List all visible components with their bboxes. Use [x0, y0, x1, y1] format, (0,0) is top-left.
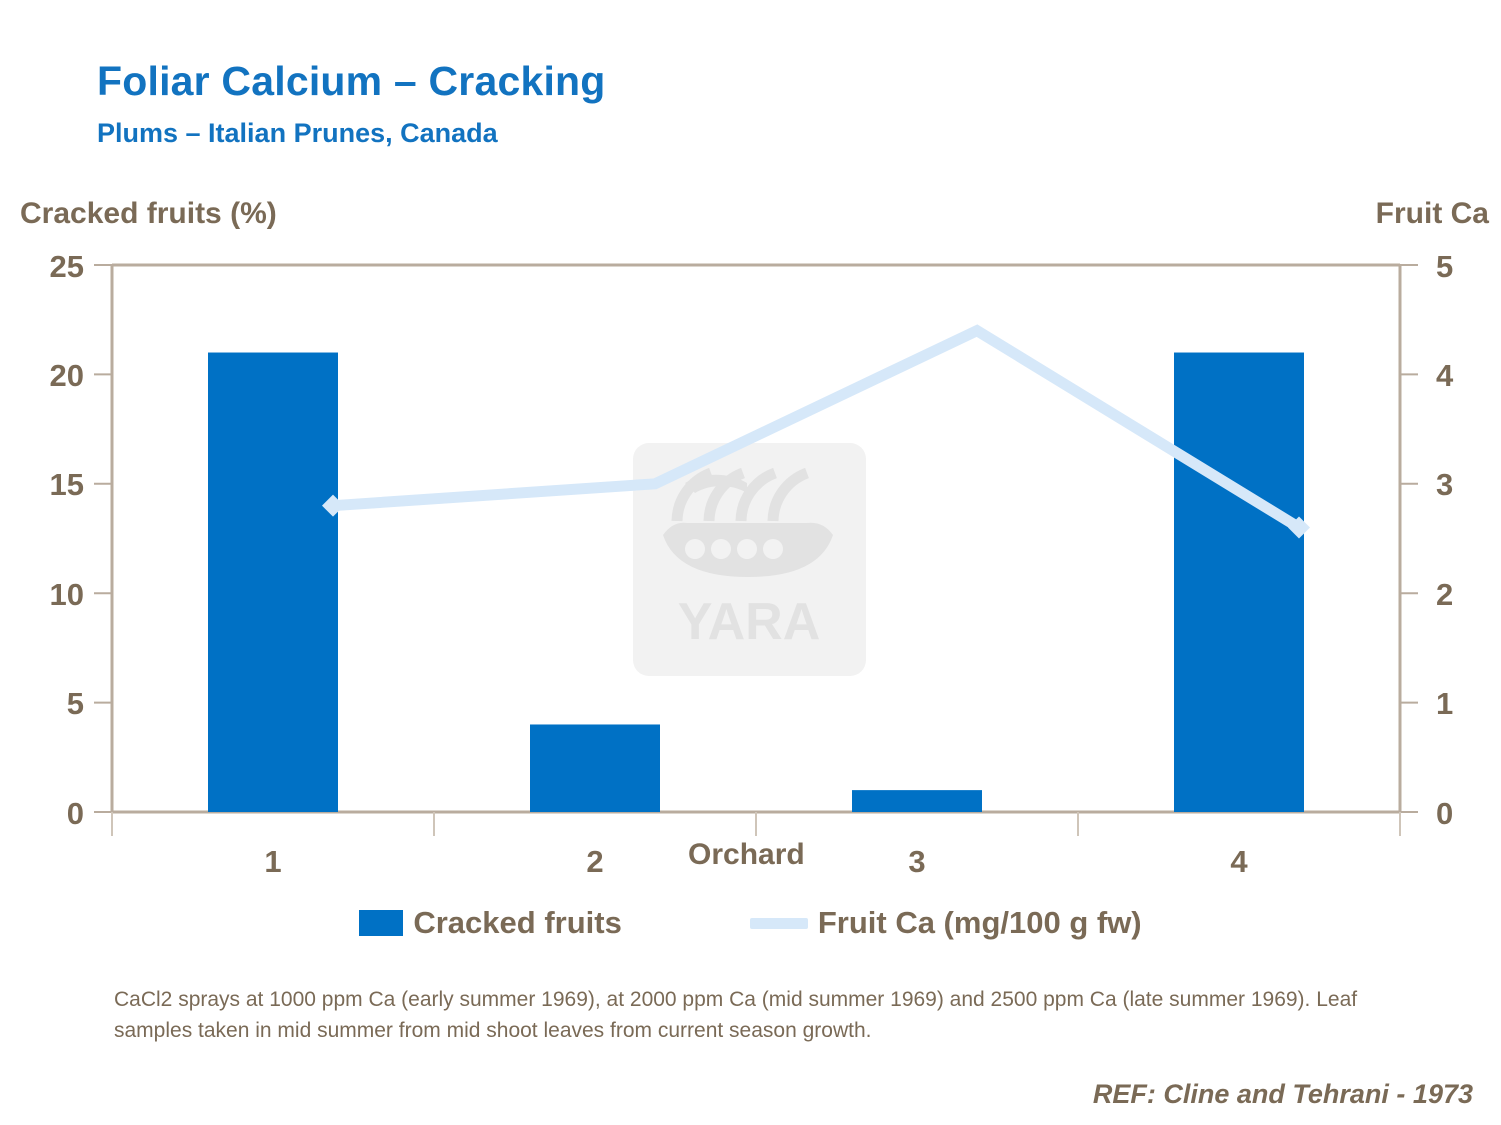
- left-axis-tick-labels: 25 20 15 10 5 0: [50, 249, 84, 831]
- slide-root: Foliar Calcium – Cracking Plums – Italia…: [0, 0, 1501, 1125]
- bar-3: [852, 790, 982, 812]
- right-tick-3: 3: [1436, 467, 1453, 502]
- bar-2: [530, 724, 660, 812]
- legend-label-cracked-fruits: Cracked fruits: [413, 905, 621, 941]
- left-tick-10: 10: [50, 577, 84, 612]
- right-tick-4: 4: [1436, 358, 1454, 393]
- x-axis-title: Orchard: [688, 838, 805, 872]
- reference-text: REF: Cline and Tehrani - 1973: [1093, 1079, 1473, 1110]
- right-tick-2: 2: [1436, 577, 1453, 612]
- x-category-label-4: 4: [1230, 844, 1248, 879]
- fruit-ca-line: [333, 331, 1299, 528]
- right-axis-tick-labels: 5 4 3 2 1 0: [1436, 249, 1454, 831]
- right-tick-0: 0: [1436, 796, 1453, 831]
- left-tick-25: 25: [50, 249, 84, 284]
- legend-item-cracked-fruits[interactable]: Cracked fruits: [359, 905, 621, 941]
- left-tick-0: 0: [67, 796, 84, 831]
- footnote-text: CaCl2 sprays at 1000 ppm Ca (early summe…: [114, 984, 1399, 1046]
- x-category-label-3: 3: [908, 844, 925, 879]
- chart-plot-area: YARA 25 20 15 10: [0, 0, 1501, 1125]
- x-category-label-2: 2: [586, 844, 603, 879]
- bar-1: [208, 353, 338, 812]
- line-series: [322, 331, 1310, 539]
- x-axis-category-ticks: [112, 812, 1400, 836]
- chart-svg: YARA 25 20 15 10: [0, 0, 1501, 1125]
- left-axis-ticks: [94, 265, 112, 812]
- bar-4: [1174, 353, 1304, 812]
- right-tick-1: 1: [1436, 686, 1453, 721]
- right-tick-5: 5: [1436, 249, 1453, 284]
- svg-text:YARA: YARA: [678, 593, 821, 651]
- right-axis-ticks: [1400, 265, 1418, 812]
- chart-legend: Cracked fruits Fruit Ca (mg/100 g fw): [0, 905, 1501, 941]
- legend-item-fruit-ca[interactable]: Fruit Ca (mg/100 g fw): [750, 905, 1142, 941]
- legend-line-swatch-icon: [750, 918, 808, 929]
- left-tick-15: 15: [50, 467, 84, 502]
- x-category-label-1: 1: [264, 844, 281, 879]
- legend-label-fruit-ca: Fruit Ca (mg/100 g fw): [818, 905, 1142, 941]
- left-tick-20: 20: [50, 358, 84, 393]
- legend-bar-swatch-icon: [359, 910, 403, 936]
- bar-series: [208, 353, 1304, 812]
- left-tick-5: 5: [67, 686, 84, 721]
